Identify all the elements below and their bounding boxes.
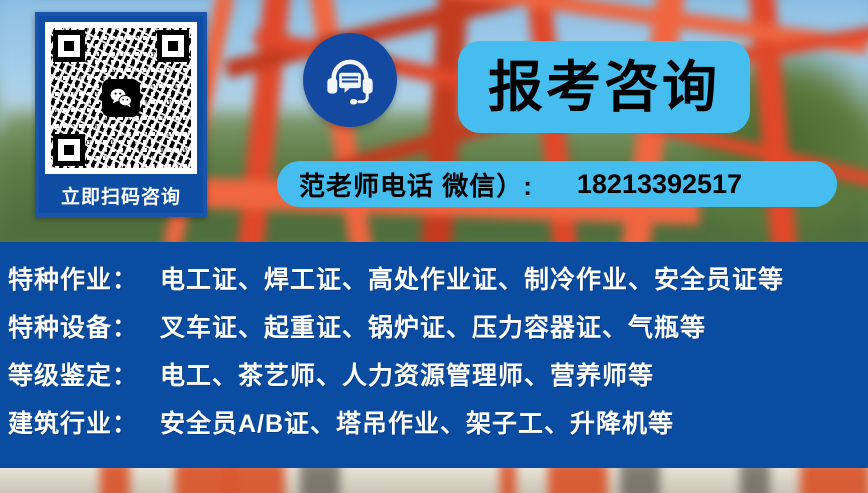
category-items: 电工、茶艺师、人力资源管理师、营养师等 [160, 356, 654, 392]
contact-phone-pill[interactable]: 范老师电话 微信）: 18213392517 [277, 161, 837, 207]
category-items: 叉车证、起重证、锅炉证、压力容器证、气瓶等 [160, 308, 706, 344]
category-items: 电工证、焊工证、高处作业证、制冷作业、安全员证等 [160, 260, 784, 296]
category-name: 等级鉴定： [8, 356, 160, 392]
category-name: 特种作业： [8, 260, 160, 296]
promotional-poster: 立即扫码咨询 报考咨询 范老师电话 微信）: 18213392517 特 [0, 0, 868, 493]
category-row: 特种设备： 叉车证、起重证、锅炉证、压力容器证、气瓶等 [4, 308, 868, 356]
qr-code-image[interactable] [45, 22, 197, 174]
qr-finder-bottom-left [53, 134, 85, 166]
category-row: 等级鉴定： 电工、茶艺师、人力资源管理师、营养师等 [4, 356, 868, 404]
qr-code-card[interactable]: 立即扫码咨询 [35, 12, 207, 217]
bottom-photo-strip [0, 468, 868, 493]
headset-support-icon [303, 33, 397, 127]
category-row: 特种作业： 电工证、焊工证、高处作业证、制冷作业、安全员证等 [4, 260, 868, 308]
qr-matrix [51, 28, 191, 168]
certification-categories-block: 特种作业： 电工证、焊工证、高处作业证、制冷作业、安全员证等 特种设备： 叉车证… [0, 242, 868, 468]
wechat-icon [102, 79, 140, 117]
qr-caption: 立即扫码咨询 [39, 182, 203, 209]
qr-finder-top-left [53, 30, 85, 62]
qr-finder-top-right [157, 30, 189, 62]
contact-phone-label: 范老师电话 微信）: [299, 166, 533, 203]
category-items: 安全员A/B证、塔吊作业、架子工、升降机等 [160, 404, 674, 440]
consultation-title-text: 报考咨询 [488, 60, 720, 115]
consultation-title-pill: 报考咨询 [458, 41, 750, 133]
category-row: 建筑行业： 安全员A/B证、塔吊作业、架子工、升降机等 [4, 404, 868, 452]
category-name: 建筑行业： [8, 404, 160, 440]
contact-phone-number[interactable]: 18213392517 [577, 169, 742, 200]
category-name: 特种设备： [8, 308, 160, 344]
